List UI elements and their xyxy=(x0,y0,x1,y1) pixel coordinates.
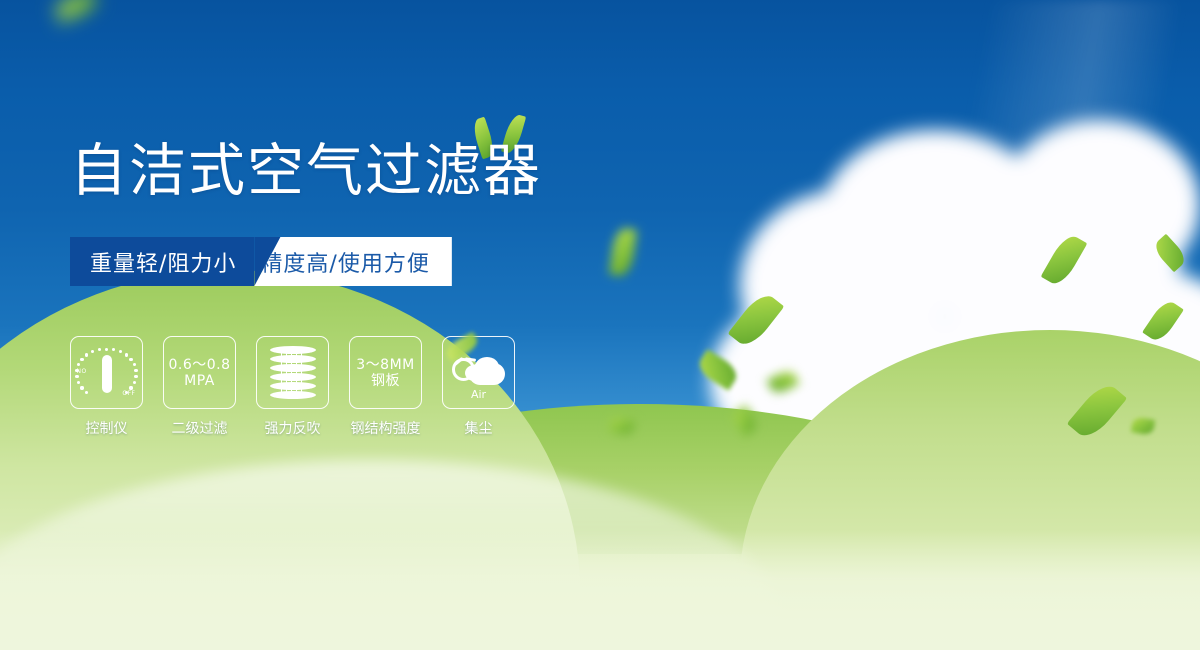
pressure-range: 0.6～0.8 xyxy=(168,357,230,373)
feature-label: 控制仪 xyxy=(86,418,128,438)
dial-label-no: NO xyxy=(77,368,87,375)
ribbon-left-text: 重量轻/阻力小 xyxy=(70,237,254,286)
feature-icon-box: Air xyxy=(442,336,515,409)
feature-icon-box: NO OFF xyxy=(70,336,143,409)
subtitle-ribbon: 重量轻/阻力小 精度高/使用方便 xyxy=(70,237,452,286)
feature-item-two-stage-filter[interactable]: 0.6～0.8 MPA 二级过滤 xyxy=(163,336,236,438)
steel-plate-text-icon: 3～8MM 钢板 xyxy=(356,357,414,389)
cloud-air-icon: Air xyxy=(451,347,507,399)
feature-icon-box: 0.6～0.8 MPA xyxy=(163,336,236,409)
product-banner: 自洁式空气过滤器 重量轻/阻力小 精度高/使用方便 xyxy=(0,0,1200,650)
feature-item-control-unit[interactable]: NO OFF 控制仪 xyxy=(70,336,143,438)
page-title: 自洁式空气过滤器 xyxy=(70,143,542,200)
feature-label: 集尘 xyxy=(465,418,493,438)
filter-cartridge-icon xyxy=(270,346,316,400)
feature-item-pulse-blowback[interactable]: 强力反吹 xyxy=(256,336,329,438)
ribbon-right-text: 精度高/使用方便 xyxy=(254,237,451,286)
dial-gauge-icon: NO OFF xyxy=(77,343,137,403)
feature-list: NO OFF 控制仪 0.6～0.8 MPA 二级过滤 xyxy=(70,336,515,438)
feature-item-steel-strength[interactable]: 3～8MM 钢板 钢结构强度 xyxy=(349,336,422,438)
feature-label: 钢结构强度 xyxy=(351,418,421,438)
pressure-unit: MPA xyxy=(168,373,230,389)
dial-needle xyxy=(102,355,112,393)
pressure-text-icon: 0.6～0.8 MPA xyxy=(168,357,230,389)
steel-material: 钢板 xyxy=(356,373,414,389)
feature-label: 强力反吹 xyxy=(265,418,321,438)
steel-thickness: 3～8MM xyxy=(356,357,414,373)
dial-label-off: OFF xyxy=(122,390,135,397)
feature-label: 二级过滤 xyxy=(172,418,228,438)
grass-foreground xyxy=(0,530,1200,650)
feature-icon-box xyxy=(256,336,329,409)
feature-icon-box: 3～8MM 钢板 xyxy=(349,336,422,409)
feature-item-dust-collection[interactable]: Air 集尘 xyxy=(442,336,515,438)
air-label: Air xyxy=(451,388,507,401)
